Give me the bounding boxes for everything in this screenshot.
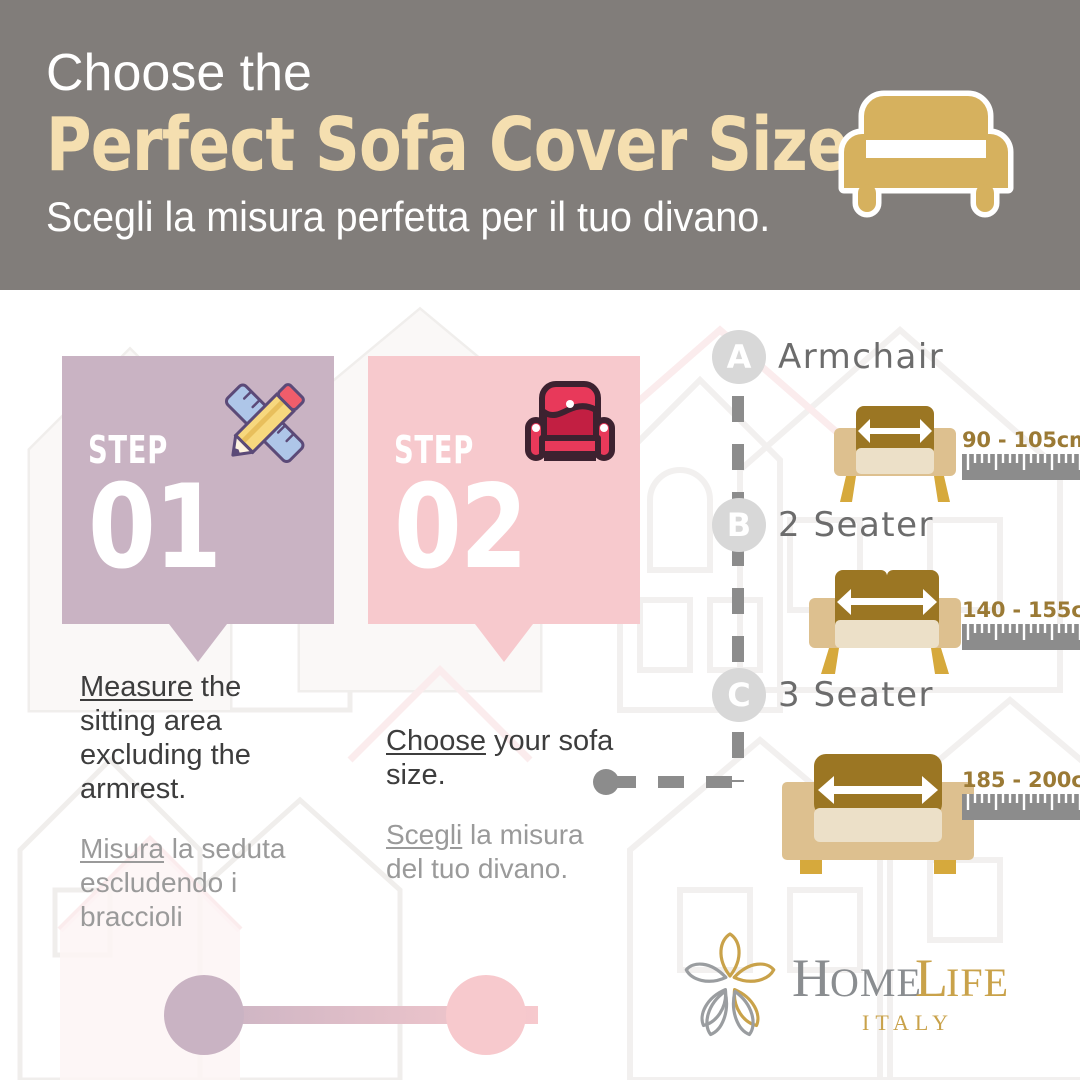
step-02-text-it: Scegli la misura del tuo divano. (386, 818, 622, 886)
header-subtitle-top: Choose the (46, 42, 826, 104)
size-row-3-seater[interactable]: C 3 Seater 185 - 200cm (700, 668, 1080, 883)
logo-word-home-rest: OME (830, 960, 922, 1005)
step-01-text-en: Measure the sitting area excluding the a… (80, 670, 316, 806)
dashed-path-endpoint-dot (593, 769, 619, 795)
step-02-text-en-keyword: Choose (386, 725, 486, 757)
logo-tagline: ITALY (862, 1010, 954, 1035)
ruler-icon-3-seater (962, 794, 1080, 820)
size-label-3-seater: 3 Seater (778, 668, 934, 722)
three-seater-illustration (778, 736, 978, 878)
logo-word-life-rest: IFE (946, 960, 1009, 1005)
step-02-text-it-keyword: Scegli (386, 819, 462, 850)
bottom-step-connector (150, 975, 580, 1055)
infographic-canvas: Choose the Perfect Sofa Cover Size Scegl… (0, 0, 1080, 1080)
armchair-illustration (828, 392, 962, 504)
step-01-header: STEP 01 (62, 356, 334, 624)
flower-logo-icon (685, 934, 776, 1035)
header-text-block: Choose the Perfect Sofa Cover Size Scegl… (46, 42, 826, 244)
step-02-notch (475, 624, 533, 662)
measurement-text-2-seater: 140 - 155cm (962, 598, 1080, 622)
step-card-02[interactable]: STEP 02 (368, 356, 640, 624)
ruler-pencil-icon (212, 372, 316, 476)
step-01-text-en-keyword: Measure (80, 671, 193, 703)
measurement-3-seater: 185 - 200cm (962, 768, 1080, 820)
brand-logo[interactable]: H OME L IFE ITALY (672, 928, 1062, 1048)
measurement-armchair: 90 - 105cm (962, 428, 1080, 480)
header-banner: Choose the Perfect Sofa Cover Size Scegl… (0, 0, 1080, 290)
connector-dot-step-01 (164, 975, 244, 1055)
size-row-armchair[interactable]: A Armchair 90 - 105cm (700, 330, 1080, 505)
size-label-armchair: Armchair (778, 330, 944, 384)
ruler-icon-armchair (962, 454, 1080, 480)
size-label-2-seater: 2 Seater (778, 498, 934, 552)
step-01-body: Measure the sitting area excluding the a… (62, 670, 334, 934)
sofa-icon (830, 72, 1022, 232)
connector-dot-step-02 (446, 975, 526, 1055)
size-row-2-seater[interactable]: B 2 Seater 140 - 155cm (700, 498, 1080, 673)
step-02-header: STEP 02 (368, 356, 640, 624)
size-badge-b: B (712, 498, 766, 552)
step-01-text-it: Misura la seduta escludendo i braccioli (80, 832, 316, 934)
step-01-text-it-keyword: Misura (80, 833, 164, 864)
measurement-2-seater: 140 - 155cm (962, 598, 1080, 650)
step-card-01[interactable]: STEP 01 (62, 356, 334, 624)
logo-word-home-cap: H (792, 948, 831, 1008)
two-seater-illustration (805, 560, 965, 676)
size-badge-a: A (712, 330, 766, 384)
step-01-number: 01 (88, 472, 295, 584)
header-subtitle-italian: Scegli la misura perfetta per il tuo div… (46, 190, 779, 244)
armchair-icon (518, 372, 622, 476)
logo-word-life-cap: L (915, 948, 948, 1008)
step-02-number: 02 (394, 472, 601, 584)
header-title: Perfect Sofa Cover Size (46, 104, 701, 186)
ruler-icon-2-seater (962, 624, 1080, 650)
step-01-notch (169, 624, 227, 662)
size-badge-c: C (712, 668, 766, 722)
measurement-text-armchair: 90 - 105cm (962, 428, 1080, 452)
measurement-text-3-seater: 185 - 200cm (962, 768, 1080, 792)
sofa-size-list: A Armchair 90 - 105cm (700, 330, 1080, 910)
